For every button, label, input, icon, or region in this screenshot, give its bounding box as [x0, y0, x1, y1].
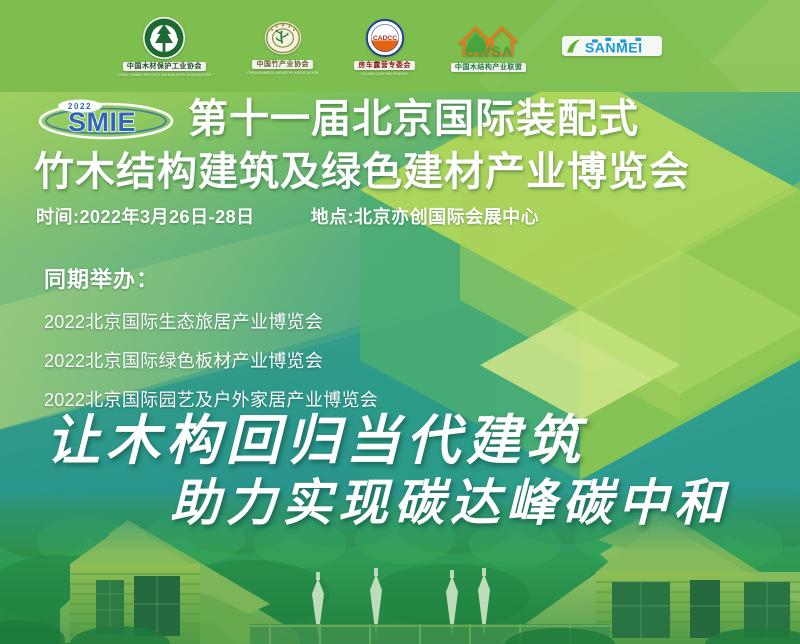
smie-logo: 2022 SMIE [36, 96, 182, 142]
logo-caption-en: CHINA BAMBOO INDUSTRY ASSOCIATION [247, 71, 318, 75]
title-block: 2022 SMIE 第十一届北京国际装配式 竹木结构建筑及绿色建材产业博览会 [0, 92, 800, 196]
slogan-line-2: 助力实现碳达峰碳中和 [0, 472, 800, 534]
list-item: 2022北京国际绿色板材产业博览会 [44, 347, 378, 373]
concurrent-events-heading: 同期举办： [44, 262, 378, 294]
title-first-row: 2022 SMIE 第十一届北京国际装配式 [0, 92, 800, 146]
sanmei-wordmark-icon: SANMEI [562, 29, 662, 63]
logo-caption-cn: 中国木结构产业联盟 [451, 63, 527, 72]
list-item: 2022北京国际生态旅居产业博览会 [44, 308, 378, 334]
svg-text:SMIE: SMIE [68, 107, 136, 137]
cadcc-rv-camping-committee-logo: CADCC 房车露营专委会 RV AND CAMPING BRANCH [354, 17, 415, 76]
logo-caption-en: RV AND CAMPING BRANCH [361, 72, 408, 76]
bamboo-industry-association-logo: 中国竹产业协会 CHINA BAMBOO INDUSTRY ASSOCIATIO… [247, 18, 318, 75]
exhibition-poster: 中国木材保护工业协会 CHINA TIMBER PROTECTION INDUS… [0, 0, 800, 644]
slogan-block: 让木构回归当代建筑 助力实现碳达峰碳中和 [0, 408, 800, 534]
logo-caption-en: CHINA TIMBER PROTECTION INDUSTRY ASSOCIA… [118, 73, 211, 77]
logo-caption-cn: 中国木材保护工业协会 [123, 62, 206, 71]
logo-caption-cn: 中国竹产业协会 [252, 60, 313, 69]
sponsor-logo-strip: 中国木材保护工业协会 CHINA TIMBER PROTECTION INDUS… [0, 0, 800, 92]
event-date: 时间:2022年3月26日-28日 [36, 203, 255, 229]
event-meta-row: 时间:2022年3月26日-28日 地点:北京亦创国际会展中心 [36, 203, 539, 229]
timber-association-seal-icon [142, 16, 186, 60]
slogan-line-1: 让木构回归当代建筑 [0, 408, 800, 472]
title-line-1: 第十一届北京国际装配式 [188, 96, 639, 142]
logo-caption-cn: 房车露营专委会 [354, 61, 415, 70]
smie-logo-icon: 2022 SMIE [36, 96, 182, 142]
svg-text:CADCC: CADCC [373, 34, 397, 41]
concurrent-events-list: 2022北京国际生态旅居产业博览会 2022北京国际绿色板材产业博览会 2022… [44, 308, 378, 412]
title-line-2: 竹木结构建筑及绿色建材产业博览会 [0, 148, 800, 196]
cwsa-china-wood-structure-industry-alliance-logo: CWSA 中国木结构产业联盟 [451, 21, 527, 72]
cadcc-seal-icon: CADCC [364, 17, 406, 59]
svg-text:SANMEI: SANMEI [585, 41, 643, 57]
svg-text:CWSA: CWSA [464, 44, 513, 60]
sanmei-logo: SANMEI [562, 29, 662, 63]
concurrent-events-block: 同期举办： 2022北京国际生态旅居产业博览会 2022北京国际绿色板材产业博览… [44, 262, 378, 425]
bamboo-association-seal-icon [263, 18, 303, 58]
event-place: 地点:北京亦创国际会展中心 [311, 203, 540, 229]
china-timber-protection-industry-association-logo: 中国木材保护工业协会 CHINA TIMBER PROTECTION INDUS… [118, 16, 211, 77]
cwsa-house-icon: CWSA [456, 21, 522, 61]
